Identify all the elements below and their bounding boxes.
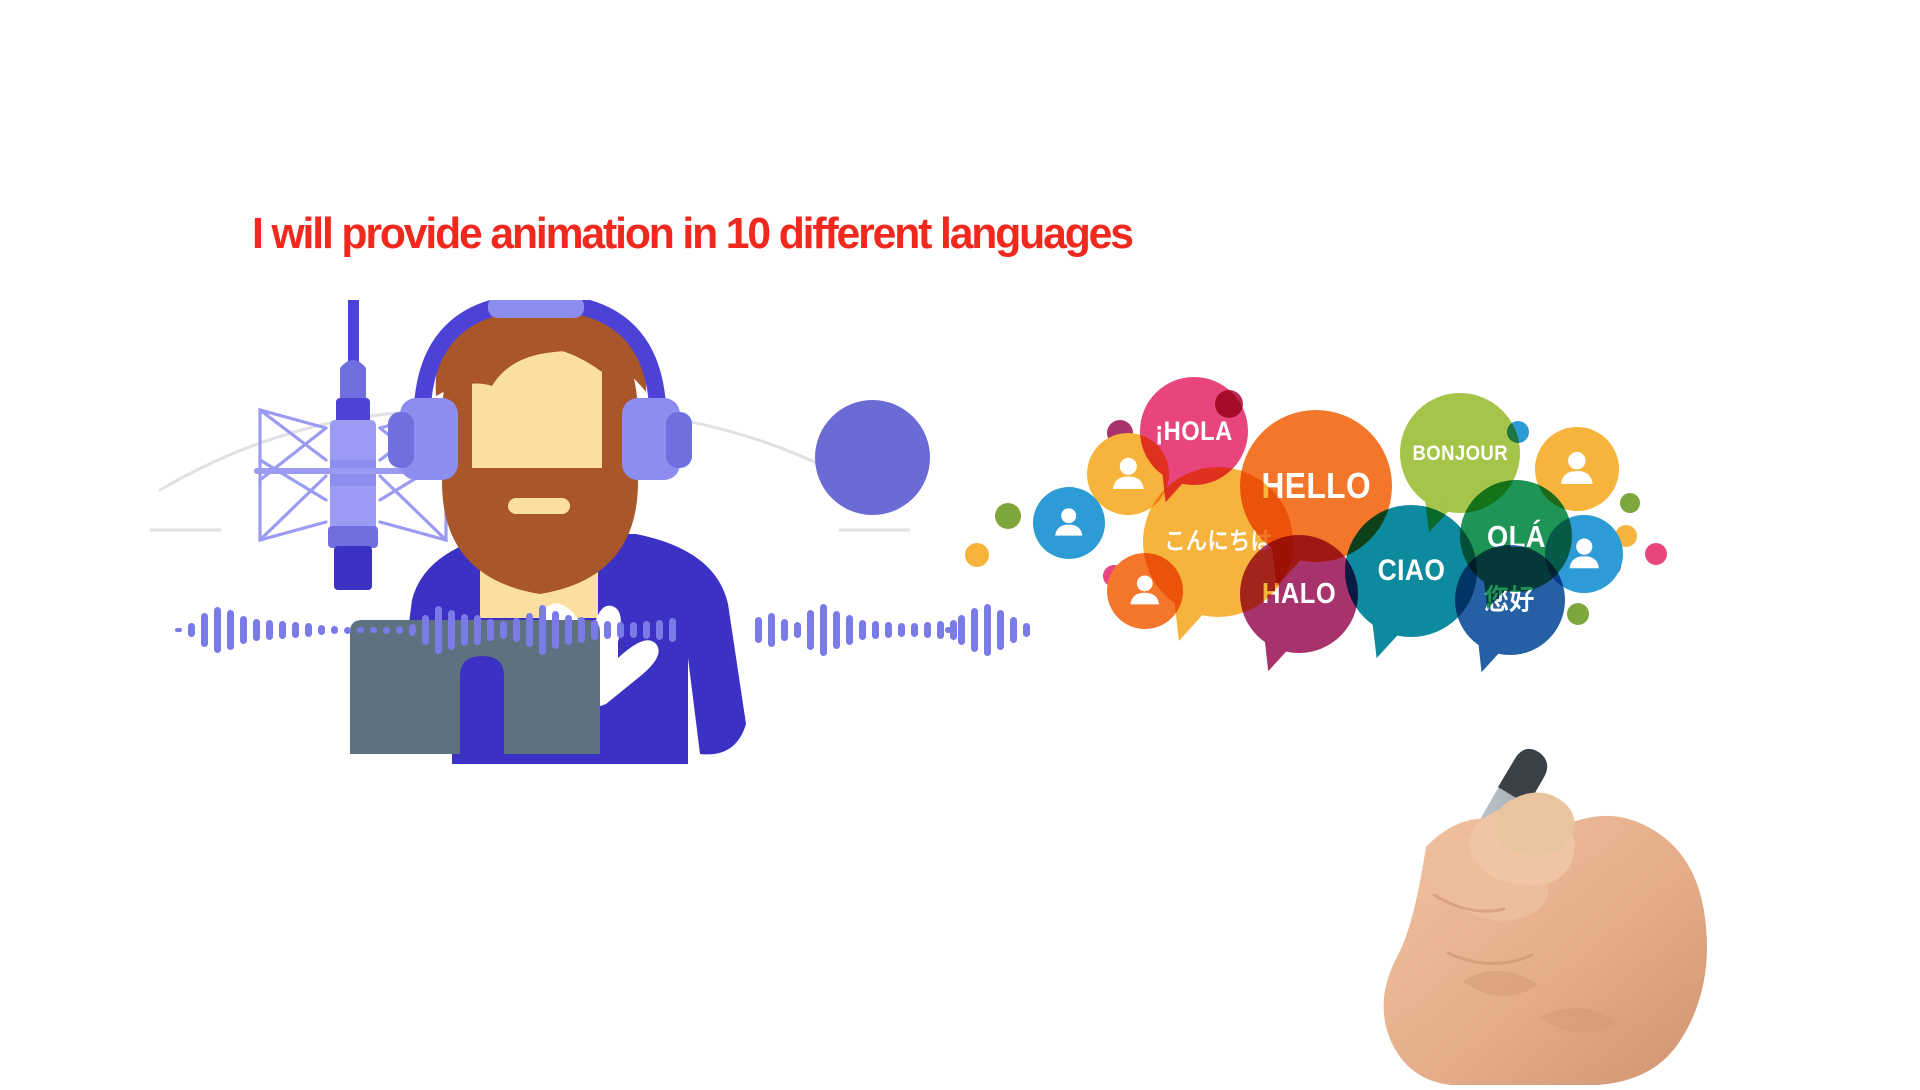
accent-dot xyxy=(1567,603,1589,625)
waveform-bar xyxy=(807,610,814,650)
waveform-bar xyxy=(565,615,572,645)
waveform-bar xyxy=(643,621,650,639)
waveform-bar xyxy=(591,620,598,640)
waveform-bar xyxy=(617,622,624,638)
waveform-bar xyxy=(630,622,637,638)
bubble-label: CIAO xyxy=(1377,556,1445,586)
waveform-bar xyxy=(898,623,905,637)
voice-over-illustration xyxy=(150,300,910,800)
waveform-bar xyxy=(305,623,312,637)
waveform-bar xyxy=(266,620,273,640)
waveform-bar xyxy=(669,618,676,642)
waveform-bar xyxy=(984,604,991,656)
waveform-bar xyxy=(578,617,585,643)
waveform-bar xyxy=(958,615,965,645)
waveform-bar xyxy=(859,620,866,640)
waveform-bar xyxy=(539,605,546,655)
waveform-bar xyxy=(820,604,827,656)
accent-circle xyxy=(815,400,930,515)
page-title: I will provide animation in 10 different… xyxy=(252,212,1132,256)
bubble-label: BONJOUR xyxy=(1412,443,1507,464)
waveform-bar xyxy=(383,627,390,634)
accent-dot xyxy=(995,503,1021,529)
waveform-bar xyxy=(175,628,182,632)
waveform-bar xyxy=(924,622,931,638)
hand-svg xyxy=(1330,725,1800,1085)
waveform-bar xyxy=(1023,623,1030,637)
waveform-bar xyxy=(872,621,879,639)
waveform-bar xyxy=(768,613,775,647)
waveform-bar xyxy=(755,617,762,643)
bubble-tail xyxy=(1361,620,1402,663)
waveform-bar xyxy=(396,626,403,634)
waveform-bar xyxy=(461,614,468,646)
bubble-label: 您好 xyxy=(1485,586,1535,614)
waveform-bar xyxy=(214,607,221,653)
waveform-bar xyxy=(885,622,892,638)
waveform-bar xyxy=(604,621,611,639)
waveform-bar xyxy=(409,624,416,636)
halo-bubble: HALO xyxy=(1240,535,1358,653)
waveform-bar xyxy=(292,622,299,638)
waveform-bar xyxy=(279,621,286,639)
waveform-bar xyxy=(344,627,351,634)
waveform-bar xyxy=(370,627,377,633)
bubble-label: HALO xyxy=(1262,580,1336,609)
waveform-bar xyxy=(971,608,978,652)
waveform-bar xyxy=(911,623,918,637)
waveform-bar xyxy=(240,616,247,644)
waveform-bar xyxy=(1010,617,1017,643)
audio-waveform-left xyxy=(175,590,676,670)
waveform-bar xyxy=(513,618,520,642)
drawing-hand-with-marker xyxy=(1330,725,1800,1085)
bubble-label: ¡HOLA xyxy=(1155,418,1232,445)
accent-dot xyxy=(1645,543,1667,565)
whiteboard-canvas: I will provide animation in 10 different… xyxy=(0,0,1920,1080)
bubble-label: こんにちは xyxy=(1164,530,1272,554)
waveform-bar xyxy=(474,615,481,645)
waveform-bar xyxy=(794,622,801,638)
waveform-bar xyxy=(201,613,208,647)
waveform-bar xyxy=(656,620,663,640)
waveform-bar xyxy=(227,610,234,650)
waveform-bar xyxy=(487,619,494,641)
accent-dot xyxy=(1620,493,1640,513)
waveform-bar xyxy=(422,615,429,645)
hand-shape xyxy=(1384,792,1707,1085)
waveform-bar xyxy=(945,627,952,633)
waveform-bar xyxy=(997,610,1004,650)
accent-dot xyxy=(965,543,989,567)
person-circle-blue-left xyxy=(1033,487,1105,559)
waveform-bar xyxy=(253,619,260,641)
bubble-tail xyxy=(1469,641,1503,677)
waveform-bar xyxy=(331,626,338,634)
voice-actor-svg xyxy=(150,300,910,800)
waveform-bar xyxy=(937,621,944,639)
audio-waveform-right xyxy=(755,590,957,670)
audio-waveform-tail xyxy=(945,590,1030,670)
waveform-bar xyxy=(526,613,533,647)
waveform-bar xyxy=(188,623,195,637)
waveform-bar xyxy=(318,625,325,635)
waveform-bar xyxy=(500,621,507,639)
waveform-bar xyxy=(435,606,442,654)
waveform-bar xyxy=(552,611,559,649)
waveform-bar xyxy=(833,611,840,649)
multilingual-speech-bubble-cluster: ¡HOLAHELLOBONJOURこんにちはOLÁCIAOHALO您好 xyxy=(1055,375,1685,705)
waveform-bar xyxy=(781,619,788,641)
waveform-bar xyxy=(357,627,364,633)
bubble-tail xyxy=(1255,638,1291,676)
waveform-bar xyxy=(448,610,455,650)
nihao-bubble: 您好 xyxy=(1455,545,1565,655)
waveform-bar xyxy=(846,615,853,645)
